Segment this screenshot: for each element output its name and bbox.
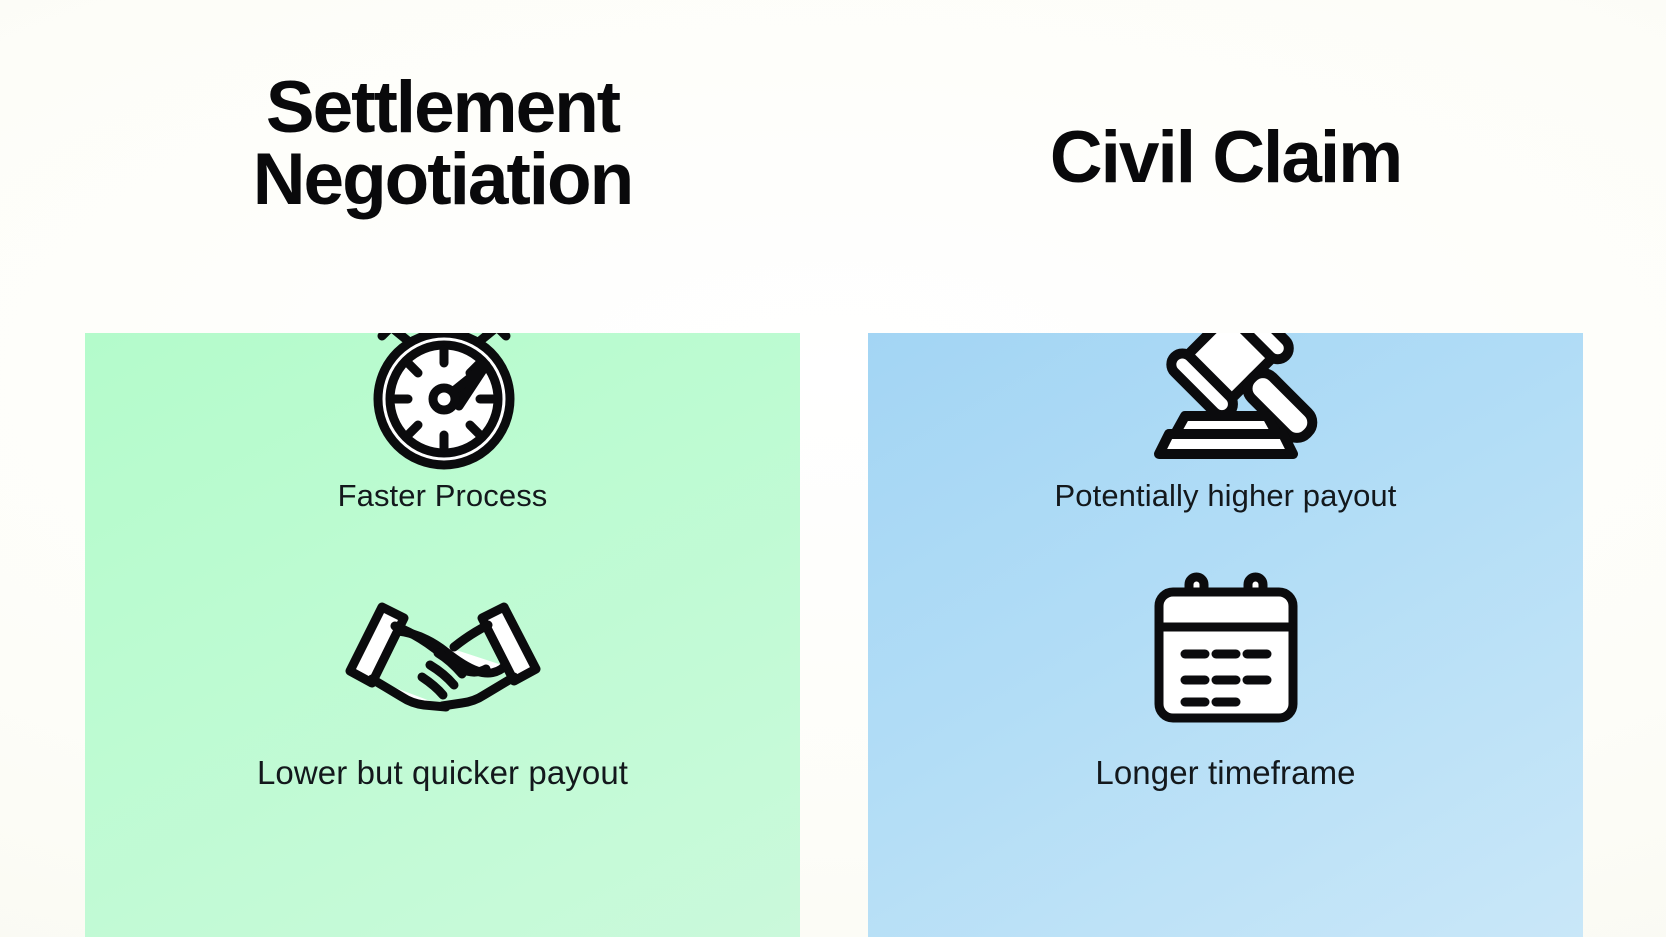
page-title-civil-claim: Civil Claim (868, 122, 1583, 194)
handshake-icon (85, 558, 800, 738)
stopwatch-icon (85, 333, 800, 468)
feature-label: Longer timeframe (868, 754, 1583, 792)
titles-row: Settlement Negotiation Civil Claim (0, 0, 1666, 333)
feature-faster-process: Faster Process (85, 333, 800, 514)
panel-settlement-negotiation: Faster Process (85, 333, 800, 937)
gavel-icon (868, 333, 1583, 468)
page-title-settlement-negotiation: Settlement Negotiation (85, 72, 800, 217)
feature-potentially-higher-payout: Potentially higher payout (868, 333, 1583, 514)
calendar-icon (868, 558, 1583, 738)
feature-label: Potentially higher payout (868, 478, 1583, 514)
feature-label: Lower but quicker payout (85, 754, 800, 792)
feature-longer-timeframe: Longer timeframe (868, 558, 1583, 792)
feature-label: Faster Process (85, 478, 800, 514)
feature-lower-but-quicker-payout: Lower but quicker payout (85, 558, 800, 792)
panel-civil-claim: Potentially higher payout (868, 333, 1583, 937)
